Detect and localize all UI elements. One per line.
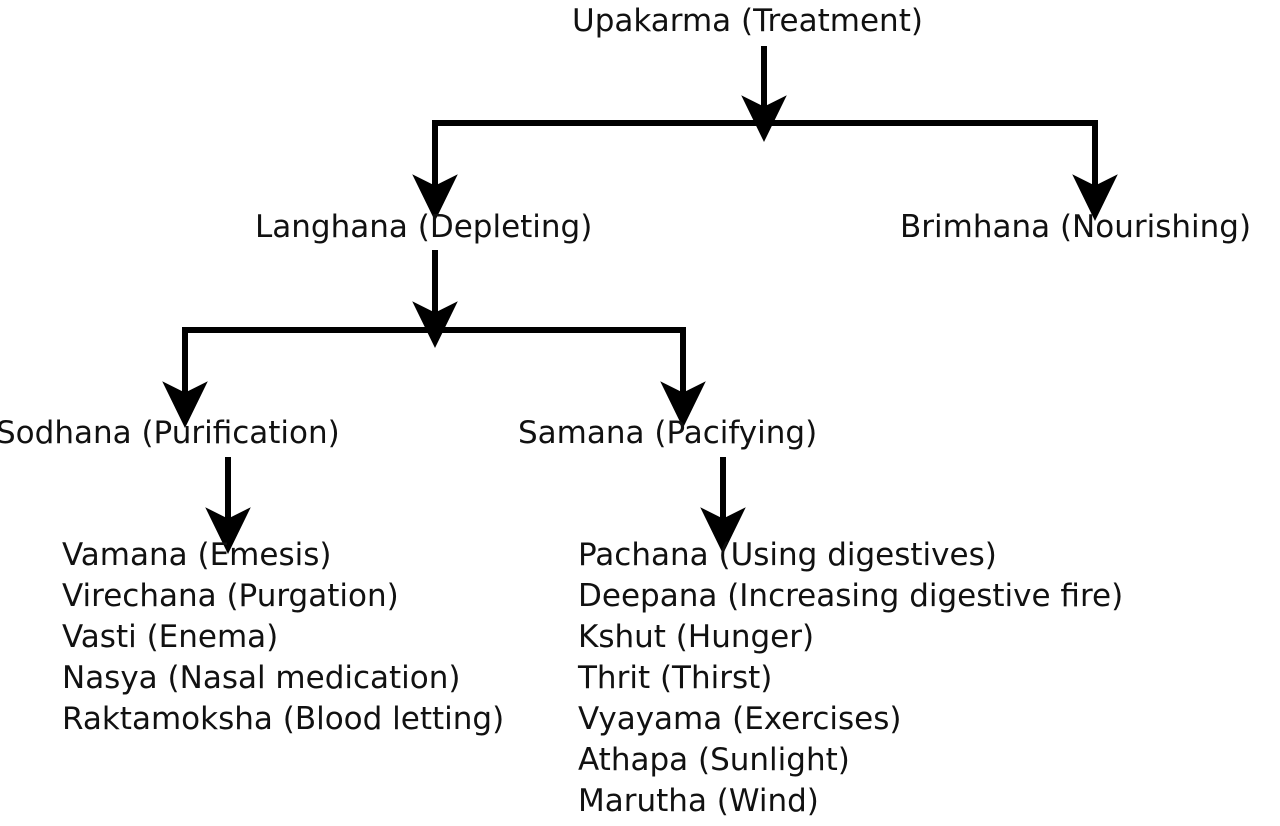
node-langhana: Langhana (Depleting)	[255, 208, 592, 246]
list-item: Virechana (Purgation)	[62, 576, 504, 617]
list-item: Pachana (Using digestives)	[578, 535, 1123, 576]
node-upakarma: Upakarma (Treatment)	[572, 2, 923, 40]
node-sodhana: Sodhana (Purification)	[0, 414, 340, 452]
list-item: Athapa (Sunlight)	[578, 740, 1123, 781]
treatment-hierarchy-diagram: Upakarma (Treatment) Langhana (Depleting…	[0, 0, 1280, 826]
list-item: Vyayama (Exercises)	[578, 699, 1123, 740]
list-item: Kshut (Hunger)	[578, 617, 1123, 658]
list-item: Nasya (Nasal medication)	[62, 658, 504, 699]
list-item: Deepana (Increasing digestive fire)	[578, 576, 1123, 617]
sodhana-items-list: Vamana (Emesis)Virechana (Purgation)Vast…	[62, 535, 504, 740]
node-brimhana: Brimhana (Nourishing)	[900, 208, 1251, 246]
list-item: Marutha (Wind)	[578, 781, 1123, 822]
samana-items-list: Pachana (Using digestives)Deepana (Incre…	[578, 535, 1123, 822]
list-item: Thrit (Thirst)	[578, 658, 1123, 699]
node-samana: Samana (Pacifying)	[518, 414, 817, 452]
list-item: Raktamoksha (Blood letting)	[62, 699, 504, 740]
list-item: Vasti (Enema)	[62, 617, 504, 658]
list-item: Vamana (Emesis)	[62, 535, 504, 576]
